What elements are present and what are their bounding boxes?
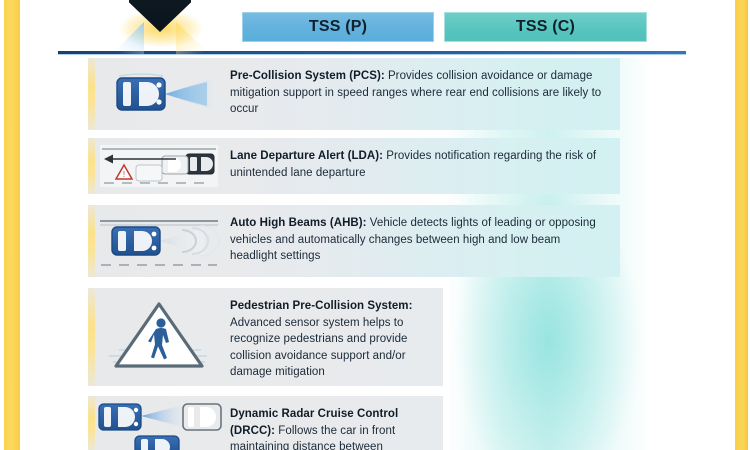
feature-row-drcc: Dynamic Radar Cruise Control (DRCC): Fol… — [88, 396, 443, 450]
feature-row-pcs: Pre-Collision System (PCS): Provides col… — [88, 58, 620, 130]
icon-cell — [88, 58, 230, 130]
icon-cell — [88, 205, 230, 277]
feature-title: Pedestrian Pre-Collision System: — [230, 300, 412, 312]
tab-tss-c[interactable]: TSS (C) — [444, 12, 647, 42]
feature-row-lda: ! Lane Departure Alert (LDA): Provides n… — [88, 138, 620, 194]
svg-text:!: ! — [123, 170, 125, 179]
feature-description: Pre-Collision System (PCS): Provides col… — [230, 68, 606, 118]
car-radar-front-icon — [103, 70, 215, 118]
text-cell: Dynamic Radar Cruise Control (DRCC): Fol… — [230, 396, 436, 450]
right-border-accent — [735, 0, 748, 450]
feature-title: Lane Departure Alert (LDA): — [230, 150, 383, 162]
text-cell: Auto High Beams (AHB): Vehicle detects l… — [230, 205, 620, 265]
infographic-page: Safety Sense TSS (P) TSS (C) — [0, 0, 750, 450]
icon-cell — [88, 396, 230, 450]
tab-bar: TSS (P) TSS (C) — [0, 0, 750, 48]
feature-description: Pedestrian Pre-Collision System: Advance… — [230, 298, 428, 381]
header: Safety Sense TSS (P) TSS (C) — [0, 0, 750, 54]
text-cell: Lane Departure Alert (LDA): Provides not… — [230, 138, 620, 181]
tab-tss-c-label: TSS (C) — [516, 18, 575, 36]
lane-departure-icon: ! — [100, 143, 218, 189]
tab-tss-p-label: TSS (P) — [309, 18, 367, 36]
headlight-beam-icon — [98, 213, 220, 269]
tab-tss-p[interactable]: TSS (P) — [242, 12, 434, 42]
text-cell: Pre-Collision System (PCS): Provides col… — [230, 58, 620, 118]
feature-body: Advanced sensor system helps to recogniz… — [230, 317, 407, 379]
feature-row-pedestrian-pcs: Pedestrian Pre-Collision System: Advance… — [88, 288, 443, 386]
feature-title: Pre-Collision System (PCS): — [230, 70, 385, 82]
two-cars-radar-icon — [95, 396, 223, 450]
pedestrian-crossing-sign-icon — [105, 294, 213, 380]
feature-row-ahb: Auto High Beams (AHB): Vehicle detects l… — [88, 205, 620, 277]
feature-description: Auto High Beams (AHB): Vehicle detects l… — [230, 215, 606, 265]
left-border-accent — [4, 0, 20, 450]
feature-title: Auto High Beams (AHB): — [230, 217, 367, 229]
icon-cell — [88, 288, 230, 386]
feature-description: Lane Departure Alert (LDA): Provides not… — [230, 148, 606, 181]
icon-cell: ! — [88, 138, 230, 194]
text-cell: Pedestrian Pre-Collision System: Advance… — [230, 288, 436, 381]
feature-description: Dynamic Radar Cruise Control (DRCC): Fol… — [230, 406, 428, 450]
badge-line-2: Sense — [148, 0, 171, 2]
header-divider — [58, 51, 686, 54]
